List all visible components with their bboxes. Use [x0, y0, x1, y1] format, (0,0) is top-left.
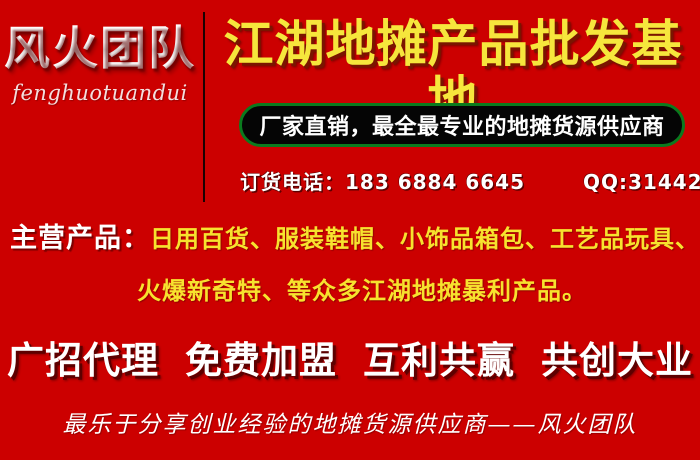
products-line-2: 火爆新奇特、等众多江湖地摊暴利产品。	[10, 271, 694, 306]
slogan-item-4: 共创大业	[541, 330, 693, 384]
brand-logo: 风火团队 fenghuotuandui	[0, 22, 200, 152]
subtitle-text: 厂家直销，最全最专业的地摊货源供应商	[259, 109, 664, 141]
slogan-row: 广招代理 免费加盟 互利共赢 共创大业	[0, 330, 700, 384]
footer-tagline: 最乐于分享创业经验的地摊货源供应商——风火团队	[0, 405, 700, 439]
slogan-item-2: 免费加盟	[185, 330, 337, 384]
brand-name-cn: 风火团队	[0, 22, 200, 75]
products-line-1: 日用百货、服装鞋帽、小饰品箱包、工艺品玩具、	[150, 219, 700, 254]
slogan-item-1: 广招代理	[7, 330, 159, 384]
products-row-first: 主营产品： 日用百货、服装鞋帽、小饰品箱包、工艺品玩具、	[10, 216, 694, 255]
products-label: 主营产品：	[10, 216, 150, 255]
vertical-divider	[203, 12, 205, 202]
slogan-item-3: 互利共赢	[363, 330, 515, 384]
promo-banner: 风火团队 fenghuotuandui 江湖地摊产品批发基地 厂家直销，最全最专…	[0, 0, 700, 460]
products-section: 主营产品： 日用百货、服装鞋帽、小饰品箱包、工艺品玩具、 火爆新奇特、等众多江湖…	[10, 216, 694, 306]
subtitle-pill: 厂家直销，最全最专业的地摊货源供应商	[239, 103, 685, 147]
contact-row: 订货电话：183 6884 6645 QQ:314422306	[240, 166, 690, 195]
brand-name-pinyin: fenghuotuandui	[0, 81, 200, 105]
qq-number-text: QQ:314422306	[583, 170, 700, 194]
order-phone-text: 订货电话：183 6884 6645	[240, 166, 525, 195]
